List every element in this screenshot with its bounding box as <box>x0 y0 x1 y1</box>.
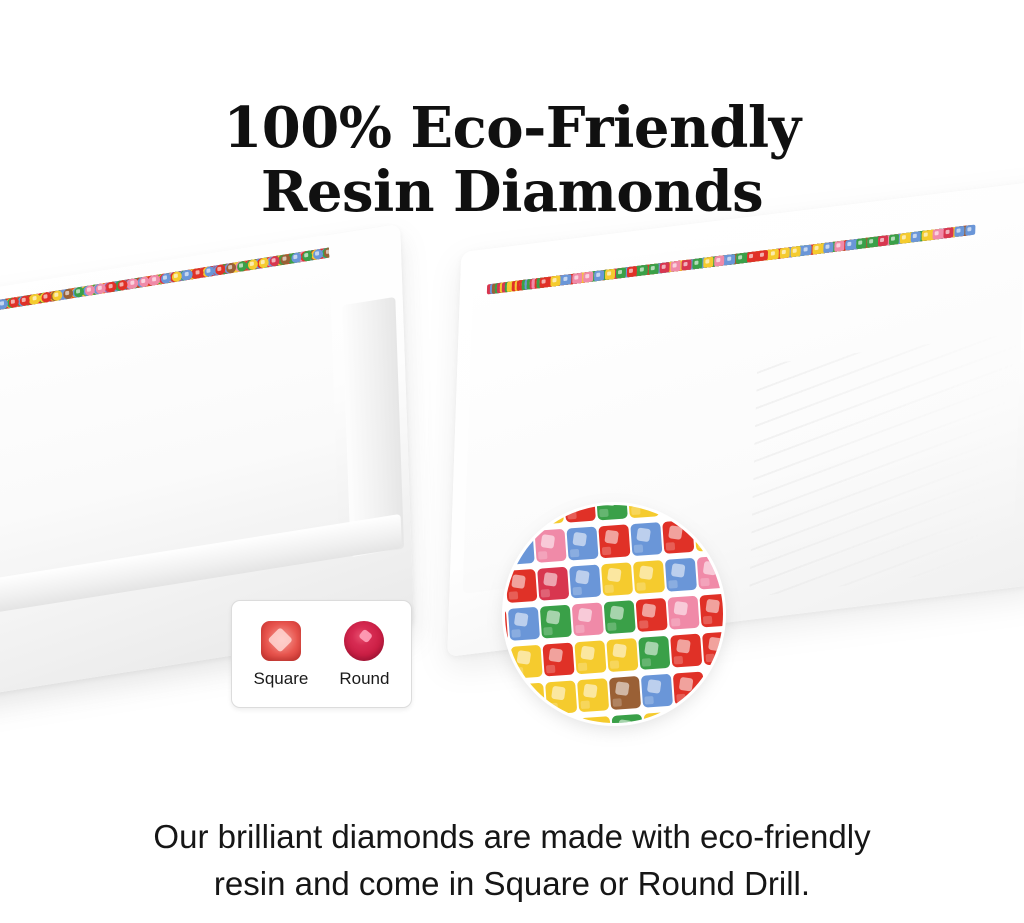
drill-bead <box>877 235 887 246</box>
drill-bead <box>834 241 844 252</box>
drill-bead <box>550 275 560 286</box>
magnified-drill-bead <box>548 718 580 723</box>
magnified-drill-bead <box>505 505 532 527</box>
magnified-drill-bead <box>665 558 697 592</box>
magnified-drill-bead <box>535 529 567 563</box>
magnified-drill-bead <box>636 598 668 632</box>
magnified-drill-bead <box>641 674 673 708</box>
drill-bead <box>572 273 582 284</box>
drill-bead <box>73 286 83 298</box>
magnified-drill-bead <box>673 671 705 705</box>
drill-bead <box>171 271 181 283</box>
drill-bead <box>150 274 160 286</box>
magnified-drill-bead <box>596 505 628 520</box>
drill-bead <box>30 293 40 305</box>
caption-line-2: resin and come in Square or Round Drill. <box>0 860 1024 907</box>
magnified-drill-bead <box>574 640 606 674</box>
drill-bead <box>801 245 811 256</box>
drill-bead <box>681 259 691 270</box>
drill-bead <box>615 267 625 278</box>
magnified-drill-bead <box>691 505 723 514</box>
magnified-drill-bead <box>694 518 723 552</box>
magnified-drill-bead <box>580 716 612 723</box>
drill-row <box>0 243 339 313</box>
drill-bead <box>41 292 51 304</box>
round-gem-icon <box>344 621 384 661</box>
drill-bead <box>648 263 658 274</box>
square-gem-icon <box>261 621 301 661</box>
magnified-drill-bead <box>612 714 644 723</box>
drill-bead <box>236 261 246 273</box>
magnified-drill-bead <box>702 631 723 665</box>
magnified-drill-bead <box>511 645 543 679</box>
drill-bead <box>193 267 203 279</box>
drill-bead <box>280 254 290 266</box>
legend-label-square: Square <box>254 670 309 687</box>
drill-bead <box>866 237 876 248</box>
magnified-drill-bead <box>505 531 535 565</box>
drill-bead <box>823 242 833 253</box>
magnified-drill-bead <box>644 712 676 723</box>
drill-bead <box>302 250 312 262</box>
drill-bead <box>0 298 8 310</box>
drill-bead <box>790 246 800 257</box>
drill-bead <box>921 230 931 241</box>
drill-bead <box>768 249 778 260</box>
legend-item-round: Round <box>339 621 389 687</box>
drill-bead <box>637 265 647 276</box>
drill-bead <box>735 253 745 264</box>
drill-bead <box>128 278 138 290</box>
drill-bead <box>8 297 18 309</box>
drill-bead <box>812 243 822 254</box>
magnified-drill-bead <box>505 569 537 603</box>
drill-bead <box>779 247 789 258</box>
magnified-drill-bead <box>604 600 636 634</box>
shape-legend-card: Square Round <box>231 600 412 708</box>
drill-bead <box>659 262 669 273</box>
drill-bead <box>182 269 192 281</box>
drill-bead <box>594 270 604 281</box>
magnified-drill-bead <box>699 593 723 627</box>
magnified-drill-bead <box>542 643 574 677</box>
magnified-drill-bead <box>564 505 596 523</box>
magnified-drill-bead <box>569 564 601 598</box>
magnified-drill-bead <box>606 638 638 672</box>
gem-facet <box>268 627 294 653</box>
magnified-drill-bead <box>675 709 707 723</box>
magnified-drill-bead <box>667 596 699 630</box>
drill-bead <box>95 283 105 295</box>
magnified-drill-bead <box>598 524 630 558</box>
drill-bead <box>258 257 268 269</box>
magnified-drill-bead <box>662 520 694 554</box>
headline-line-1: 100% Eco-Friendly <box>0 96 1024 160</box>
drill-bead <box>888 234 898 245</box>
magnified-drill-bead <box>628 505 660 518</box>
tray-grooves <box>749 328 1024 597</box>
magnified-drill-bead <box>633 560 665 594</box>
drill-bead <box>845 239 855 250</box>
magnified-drill-bead <box>513 683 545 717</box>
drill-bead <box>856 238 866 249</box>
magnified-drill-bead <box>601 562 633 596</box>
drill-bead <box>160 273 170 285</box>
magnified-drill-bead <box>505 647 511 681</box>
magnified-drill-bead <box>545 680 577 714</box>
magnified-drill-bead <box>630 522 662 556</box>
drill-bead <box>714 255 724 266</box>
magnified-drill-bead <box>638 636 670 670</box>
page-title: 100% Eco-Friendly Resin Diamonds <box>0 96 1024 224</box>
caption-line-1: Our brilliant diamonds are made with eco… <box>0 813 1024 860</box>
magnified-drill-bead <box>609 676 641 710</box>
magnified-drill-bead <box>577 678 609 712</box>
magnified-drill-rows <box>505 505 723 723</box>
drill-bead <box>757 250 767 261</box>
gem-facet <box>358 629 373 644</box>
drill-bead <box>269 255 279 267</box>
headline-line-2: Resin Diamonds <box>0 160 1024 224</box>
drill-bead <box>932 229 942 240</box>
drill-bead <box>626 266 636 277</box>
drill-bead <box>215 264 225 276</box>
product-banner: 100% Eco-Friendly Resin Diamonds Square … <box>0 0 1024 923</box>
drill-bead <box>226 262 236 274</box>
drill-bead <box>204 266 214 278</box>
magnified-drill-bead <box>537 567 569 601</box>
magnified-drill-bead <box>505 685 513 719</box>
magnified-drill-bead <box>566 527 598 561</box>
drill-bead <box>910 231 920 242</box>
drill-bead <box>63 288 73 300</box>
drill-bead <box>943 227 953 238</box>
magnified-drill-bead <box>660 505 692 516</box>
drill-bead <box>52 290 62 302</box>
legend-item-square: Square <box>254 621 309 687</box>
drill-bead <box>583 271 593 282</box>
drill-bead <box>539 277 549 288</box>
drill-bead <box>106 281 116 293</box>
square-drill-closeup-magnifier <box>505 505 723 723</box>
drill-bead <box>899 233 909 244</box>
magnified-drill-bead <box>508 607 540 641</box>
drill-bead <box>84 285 94 297</box>
magnified-drill-bead <box>516 721 548 723</box>
drill-bead <box>139 276 149 288</box>
drill-bead <box>247 259 257 271</box>
drill-bead <box>692 258 702 269</box>
drill-bead <box>117 280 127 292</box>
magnified-drill-bead <box>697 556 723 590</box>
drill-bead <box>19 295 29 307</box>
product-description: Our brilliant diamonds are made with eco… <box>0 813 1024 907</box>
drill-bead <box>954 226 964 237</box>
drill-bead <box>604 269 614 280</box>
drill-bead <box>725 254 735 265</box>
legend-items: Square Round <box>232 601 411 707</box>
drill-bead <box>312 249 322 261</box>
magnified-drill-bead <box>670 634 702 668</box>
magnified-drill-bead <box>532 505 564 525</box>
drill-bead <box>703 257 713 268</box>
magnified-drill-bead <box>572 602 604 636</box>
drill-bead <box>561 274 571 285</box>
magnified-drill-bead <box>705 669 723 703</box>
magnified-drill-bead <box>707 707 723 723</box>
legend-label-round: Round <box>339 670 389 687</box>
magnified-drill-bead <box>540 605 572 639</box>
drill-bead <box>670 261 680 272</box>
drill-bead <box>965 225 975 236</box>
drill-bead <box>291 252 301 264</box>
drill-bead <box>746 251 756 262</box>
